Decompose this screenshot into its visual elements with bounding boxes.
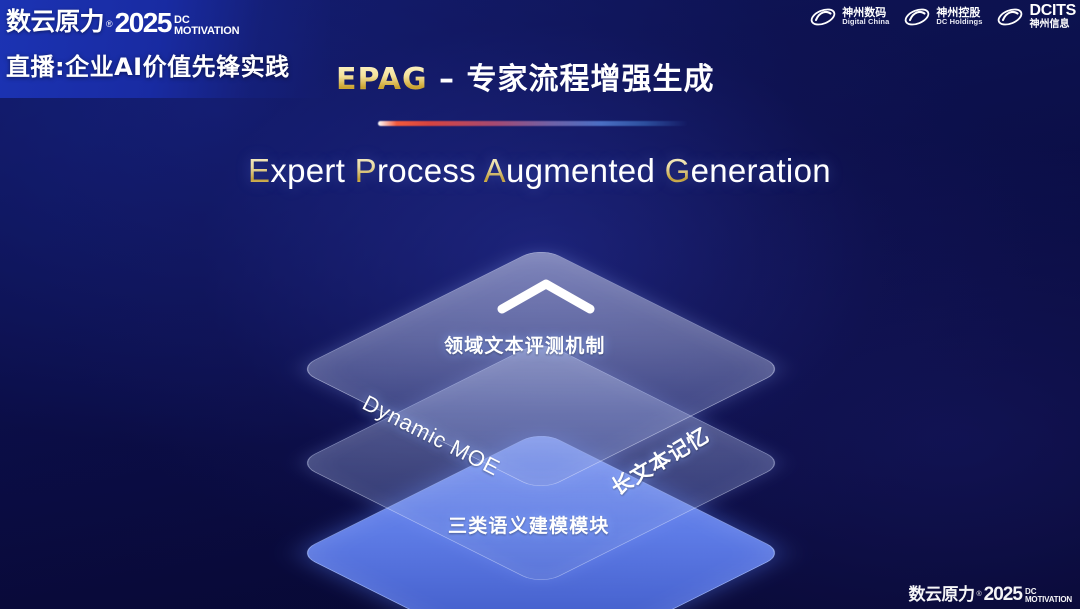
page-title: EPAG – 专家流程增强生成 bbox=[336, 54, 714, 98]
page-subtitle: Expert Process Augmented Generation bbox=[248, 152, 831, 190]
logo-text-dcits: DCITS 神州信息 bbox=[1029, 3, 1076, 30]
watermark-registered-mark: ® bbox=[977, 591, 982, 598]
swirl-logo-icon bbox=[996, 5, 1024, 29]
subtitle-rest-generation: eneration bbox=[691, 152, 831, 189]
live-session-title: 直播:企业AI价值先锋实践 bbox=[6, 47, 290, 82]
logo-en-label: Digital China bbox=[842, 18, 889, 26]
title-divider bbox=[378, 121, 688, 126]
logo-en-label: DC Holdings bbox=[936, 18, 982, 26]
title-dash: – bbox=[439, 62, 455, 97]
subtitle-rest-process: rocess bbox=[377, 152, 476, 189]
subtitle-initial-p: P bbox=[355, 152, 377, 189]
layered-architecture-diagram: 领域文本评测机制 Dynamic MOE 长文本记忆 三类语义建模模块 bbox=[258, 218, 822, 598]
subtitle-initial-a: A bbox=[484, 152, 506, 189]
logo-text-digital-china: 神州数码 Digital China bbox=[842, 7, 889, 26]
chevron-up-icon bbox=[494, 276, 598, 316]
subtitle-initial-g: G bbox=[665, 152, 691, 189]
watermark-dc-motivation: DC MOTIVATION bbox=[1025, 588, 1072, 604]
title-chinese: 专家流程增强生成 bbox=[466, 62, 714, 97]
watermark-year: 2025 bbox=[984, 584, 1022, 606]
watermark-logo: 数云原力 ® 2025 DC MOTIVATION bbox=[909, 580, 1073, 605]
swirl-logo-icon bbox=[809, 5, 837, 29]
brand-motivation-text: MOTIVATION bbox=[174, 26, 239, 37]
brand-registered-mark: ® bbox=[106, 19, 113, 29]
brand-name-cn: 数云原力 bbox=[6, 2, 104, 38]
subtitle-initial-e: E bbox=[248, 152, 270, 189]
title-acronym: EPAG bbox=[336, 62, 428, 97]
logo-en-label: DCITS bbox=[1029, 3, 1076, 19]
brand-logo: 数云原力 ® 2025 DC MOTIVATION bbox=[6, 2, 239, 38]
logo-dcits: DCITS 神州信息 bbox=[996, 3, 1076, 30]
logo-digital-china: 神州数码 Digital China bbox=[809, 5, 889, 29]
brand-year: 2025 bbox=[115, 7, 171, 39]
slide-canvas: 数云原力 ® 2025 DC MOTIVATION 直播:企业AI价值先锋实践 … bbox=[0, 0, 1080, 609]
diagram-label-top: 领域文本评测机制 bbox=[444, 331, 606, 358]
watermark-motivation-text: MOTIVATION bbox=[1025, 596, 1072, 604]
watermark-name-cn: 数云原力 bbox=[909, 580, 975, 605]
swirl-logo-icon bbox=[903, 5, 931, 29]
partner-logos: 神州数码 Digital China 神州控股 DC Holdings bbox=[809, 3, 1076, 30]
diagram-label-bottom: 三类语义建模模块 bbox=[448, 511, 610, 538]
logo-text-dc-holdings: 神州控股 DC Holdings bbox=[936, 7, 982, 26]
subtitle-rest-expert: xpert bbox=[270, 152, 345, 189]
logo-dc-holdings: 神州控股 DC Holdings bbox=[903, 5, 982, 29]
subtitle-rest-augmented: ugmented bbox=[506, 152, 655, 189]
brand-dc-motivation: DC MOTIVATION bbox=[174, 15, 239, 37]
logo-cn-label: 神州信息 bbox=[1029, 19, 1076, 30]
